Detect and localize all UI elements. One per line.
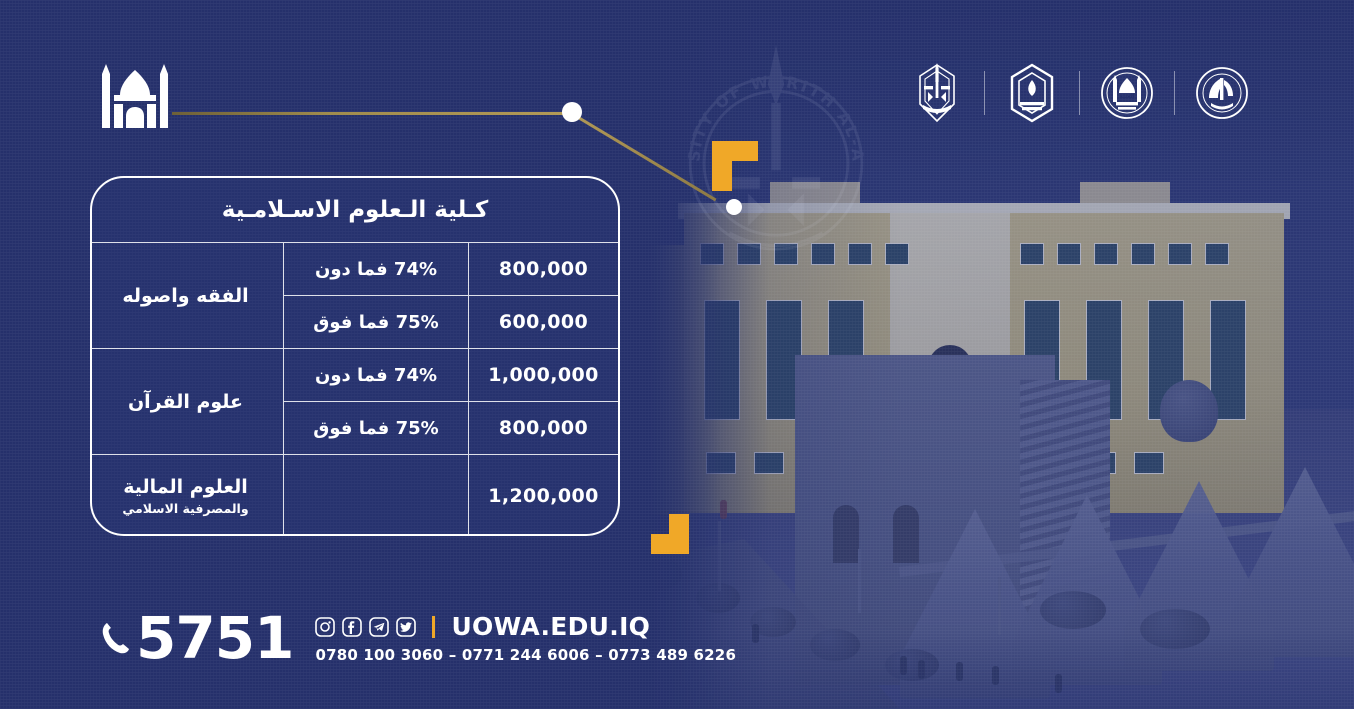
table-cell-grade-band: 75% فما فوق bbox=[283, 401, 468, 454]
facebook-icon[interactable] bbox=[342, 617, 362, 637]
phone-icon bbox=[100, 620, 130, 656]
table-cell-amount: 600,000 bbox=[468, 295, 618, 348]
table-cell-grade-band bbox=[283, 454, 468, 536]
table-cell-amount: 1,000,000 bbox=[468, 348, 618, 401]
warith-al-anbiyaa-university-logo bbox=[910, 62, 964, 124]
phone-numbers: 0780 100 3060 – 0771 244 6006 – 0773 489… bbox=[315, 646, 736, 664]
department-name: العلوم المالية bbox=[123, 476, 248, 498]
al-ataba-al-abbasiyya-logo: العتبة bbox=[1100, 62, 1154, 124]
footer-links: UOWA.EDU.IQ 0780 100 3060 – 0771 244 600… bbox=[315, 612, 736, 664]
table-cell-amount: 800,000 bbox=[468, 401, 618, 454]
website-link[interactable]: UOWA.EDU.IQ bbox=[451, 612, 650, 641]
department-subtitle: والمصرفية الاسلامي bbox=[122, 501, 248, 516]
footer-separator bbox=[432, 616, 435, 638]
connector-dot-upper bbox=[562, 102, 582, 122]
fee-table-grid: 800,000 74% فما دون الفقه واصوله 600,000… bbox=[92, 242, 618, 534]
table-cell-department: علوم القرآن bbox=[90, 348, 283, 454]
logo-divider bbox=[984, 71, 985, 115]
table-cell-department: الفقه واصوله bbox=[90, 242, 283, 348]
table-cell-grade-band: 75% فما فوق bbox=[283, 295, 468, 348]
fee-table-card: كـلية الـعلوم الاسـلامـية 800,000 74% فم… bbox=[90, 176, 620, 536]
instagram-icon[interactable] bbox=[315, 617, 335, 637]
footer-contact-bar: 5751 bbox=[100, 612, 736, 665]
logo-divider bbox=[1174, 71, 1175, 115]
partner-logos: العتبة bbox=[910, 62, 1249, 124]
department-name: علوم القرآن bbox=[128, 391, 243, 413]
poster-canvas: UNIVERSITY OF WARITH AL-ANBIYAA bbox=[0, 0, 1354, 709]
fee-table-title: كـلية الـعلوم الاسـلامـية bbox=[92, 178, 618, 242]
department-name: الفقه واصوله bbox=[122, 285, 248, 307]
table-cell-amount: 1,200,000 bbox=[468, 454, 618, 536]
table-cell-department: العلوم المالية والمصرفية الاسلامي bbox=[90, 454, 283, 536]
svg-text:العتبة: العتبة bbox=[1119, 94, 1134, 100]
telegram-icon[interactable] bbox=[369, 617, 389, 637]
connector-line-horizontal bbox=[172, 112, 568, 115]
logo-divider bbox=[1079, 71, 1080, 115]
social-row: UOWA.EDU.IQ bbox=[315, 612, 736, 641]
table-cell-amount: 800,000 bbox=[468, 242, 618, 295]
orange-corner-bracket-top bbox=[712, 141, 758, 191]
hexagon-academic-logo bbox=[1005, 62, 1059, 124]
mosque-icon bbox=[98, 62, 172, 128]
orange-corner-bracket-bottom bbox=[651, 514, 689, 554]
table-cell-grade-band: 74% فما دون bbox=[283, 242, 468, 295]
twitter-icon[interactable] bbox=[396, 617, 416, 637]
table-cell-grade-band: 74% فما دون bbox=[283, 348, 468, 401]
ministry-of-higher-education-logo bbox=[1195, 62, 1249, 124]
connector-dot-lower bbox=[726, 199, 742, 215]
hotline-number: 5751 bbox=[136, 612, 293, 665]
